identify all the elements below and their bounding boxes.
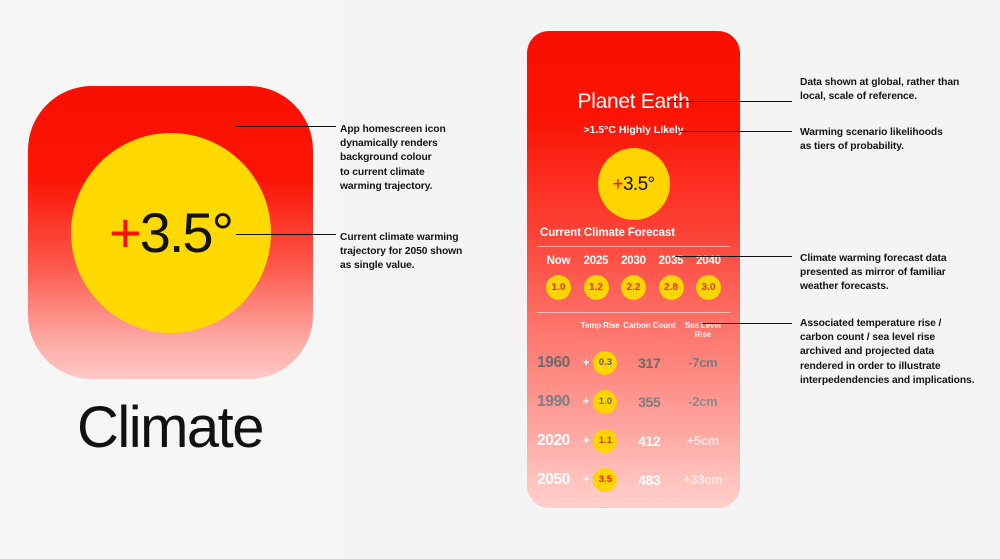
app-icon-plus-sign: +	[109, 201, 140, 264]
temp-sign: +	[583, 435, 589, 447]
table-row[interactable]: 1990 + 1.0 355 -2cm	[527, 382, 740, 421]
table-cell-carbon-count: 483	[623, 472, 676, 488]
table-cell-year: 2050	[537, 471, 577, 489]
leader-line-likelihood	[680, 131, 792, 132]
phone-title: Planet Earth	[527, 31, 740, 112]
table-cell-sea-level-rise: +5cm	[676, 433, 730, 448]
temp-sign: +	[583, 357, 589, 369]
temp-value-bubble: 1.1	[593, 429, 617, 453]
table-header-carbon-count: Carbon Count	[623, 321, 676, 339]
table-cell-temp-rise: + 0.3	[577, 351, 623, 375]
table-cell-carbon-count: 317	[623, 355, 676, 371]
forecast-value-bubble: 1.0	[546, 275, 571, 300]
table-cell-sea-level-rise: +33cm	[676, 472, 730, 487]
forecast-value-bubble: 1.2	[584, 275, 609, 300]
app-icon-number: 3.5°	[140, 201, 232, 264]
temp-value-bubble: 3.5	[593, 468, 617, 492]
leader-line-global-scale	[668, 101, 792, 102]
annotation-associated-data: Associated temperature rise / carbon cou…	[800, 317, 1000, 388]
table-cell-temp-rise: + 1.1	[577, 429, 623, 453]
forecast-value-row: 1.0 1.2 2.2 2.8 3.0	[537, 275, 730, 300]
phone-scenario-likelihood: >1.5°C Highly Likely	[527, 124, 740, 136]
forecast-value-cell: 3.0	[690, 275, 727, 300]
annotation-global-scale: Data shown at global, rather than local,…	[800, 76, 995, 104]
table-cell-carbon-count: 355	[623, 394, 676, 410]
table-header-year	[537, 321, 577, 339]
forecast-value-bubble: 3.0	[696, 275, 721, 300]
table-cell-carbon-count: 412	[623, 433, 676, 449]
forecast-column[interactable]: Now	[540, 255, 577, 267]
forecast-label: 2030	[615, 255, 652, 267]
phone-hero-section: Planet Earth >1.5°C Highly Likely +3.5°	[527, 31, 740, 227]
phone-sun-shape: +3.5°	[598, 148, 670, 220]
table-cell-year: 2020	[537, 432, 577, 450]
leader-line-forecast	[675, 256, 792, 257]
table-cell-sea-level-rise: -2cm	[676, 394, 730, 409]
temp-value-bubble: 0.3	[593, 351, 617, 375]
table-row[interactable]: 2050 + 3.5 483 +33cm	[527, 460, 740, 499]
annotation-forecast-mirror: Climate warming forecast data presented …	[800, 252, 995, 295]
forecast-label: Now	[540, 255, 577, 267]
table-header-temp-rise: Temp Rise	[577, 321, 623, 339]
leader-line-icon-color	[236, 126, 336, 127]
phone-hero-temperature: +3.5°	[612, 175, 654, 194]
table-cell-year: 1960	[537, 354, 577, 372]
climate-data-table[interactable]: Temp Rise Carbon Count Sea Level Rise 19…	[527, 313, 740, 508]
table-cell-temp-rise: + 3.5	[577, 468, 623, 492]
annotation-icon-color: App homescreen icon dynamically renders …	[340, 123, 510, 194]
annotation-icon-value: Current climate warming trajectory for 2…	[340, 231, 515, 274]
phone-hero-plus-sign: +	[612, 174, 623, 195]
leader-line-associated	[702, 323, 792, 324]
forecast-value-cell: 2.8	[653, 275, 690, 300]
phone-section-title: Current Climate Forecast	[527, 227, 740, 246]
temp-value-bubble: 1.0	[593, 390, 617, 414]
forecast-value-bubble: 2.8	[659, 275, 684, 300]
poster-canvas: +3.5° Climate App homescreen icon dynami…	[0, 0, 1000, 559]
forecast-value-cell: 1.0	[540, 275, 577, 300]
forecast-value-cell: 1.2	[578, 275, 615, 300]
app-icon-label: Climate	[0, 396, 340, 460]
temp-sign: +	[583, 396, 589, 408]
app-icon[interactable]: +3.5°	[28, 86, 313, 379]
table-cell-year: 1990	[537, 393, 577, 411]
forecast-value-cell: 2.2	[615, 275, 652, 300]
table-cell-temp-rise: + 4.2	[577, 507, 623, 509]
phone-mockup[interactable]: Planet Earth >1.5°C Highly Likely +3.5° …	[527, 31, 740, 508]
app-icon-temperature-value: +3.5°	[109, 205, 232, 261]
phone-hero-number: 3.5°	[623, 174, 655, 195]
annotation-likelihood-tiers: Warming scenario likelihoods as tiers of…	[800, 126, 995, 154]
forecast-column[interactable]: 2030	[615, 255, 652, 267]
table-cell-sea-level-rise: -7cm	[676, 355, 730, 370]
app-icon-sun-shape: +3.5°	[71, 133, 271, 333]
forecast-value-bubble: 2.2	[621, 275, 646, 300]
forecast-column[interactable]: 2025	[578, 255, 615, 267]
temp-value-bubble: 4.2	[593, 507, 617, 509]
table-cell-temp-rise: + 1.0	[577, 390, 623, 414]
temp-sign: +	[583, 474, 589, 486]
table-row[interactable]: 2020 + 1.1 412 +5cm	[527, 421, 740, 460]
app-icon-container[interactable]: +3.5°	[28, 86, 313, 379]
table-row[interactable]: 2080 + 4.2 547 +100cm	[527, 499, 740, 508]
table-row[interactable]: 1960 + 0.3 317 -7cm	[527, 343, 740, 382]
forecast-label: 2025	[578, 255, 615, 267]
leader-line-icon-value	[236, 234, 336, 235]
